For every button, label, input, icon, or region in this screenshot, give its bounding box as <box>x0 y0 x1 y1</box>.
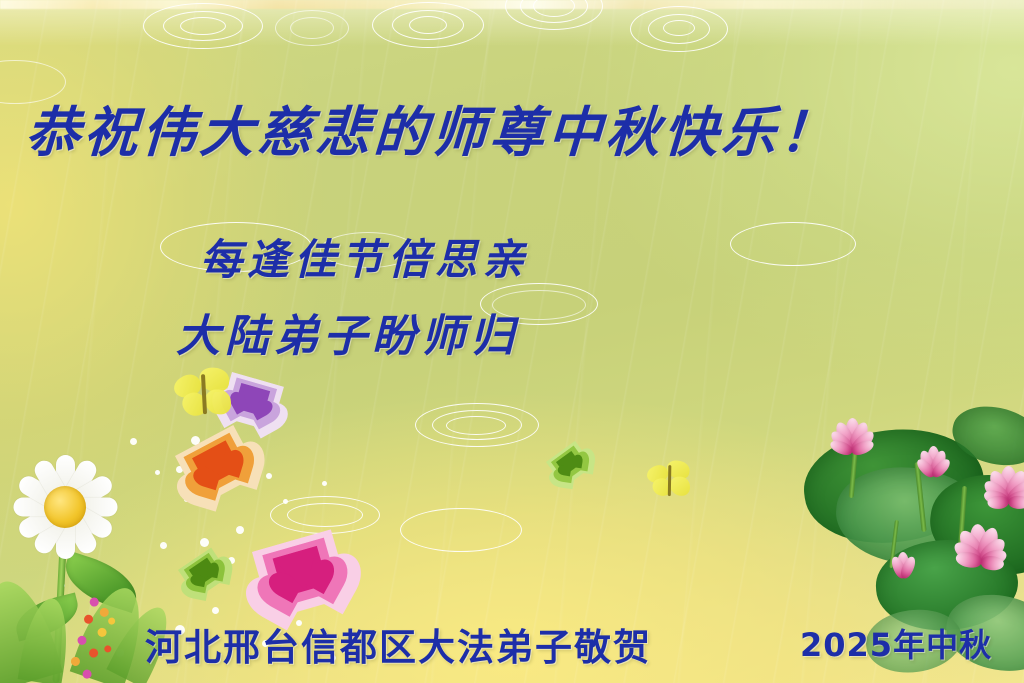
lotus-flower <box>938 500 1024 562</box>
lotus-flower <box>820 400 884 452</box>
top-haze <box>0 0 1024 46</box>
lotus-bud <box>884 540 922 578</box>
signature-text: 河北邢台信都区大法弟子敬贺 <box>145 617 652 671</box>
poem-line-2: 大陆弟子盼师归 <box>176 300 519 364</box>
butterfly-yellow-small <box>646 459 695 501</box>
poem-line-1: 每逢佳节倍思亲 <box>200 226 529 287</box>
lotus-flower <box>968 444 1024 502</box>
year-festival-text: 2025年中秋 <box>800 620 992 666</box>
daisy-petals <box>6 448 124 566</box>
greeting-card: 恭祝伟大慈悲的师尊中秋快乐！ 每逢佳节倍思亲 大陆弟子盼师归 河北邢台信都区大法… <box>0 0 1024 683</box>
page-title: 恭祝伟大慈悲的师尊中秋快乐！ <box>24 88 840 167</box>
lotus-bud <box>910 432 956 476</box>
daisy-center <box>44 486 86 528</box>
